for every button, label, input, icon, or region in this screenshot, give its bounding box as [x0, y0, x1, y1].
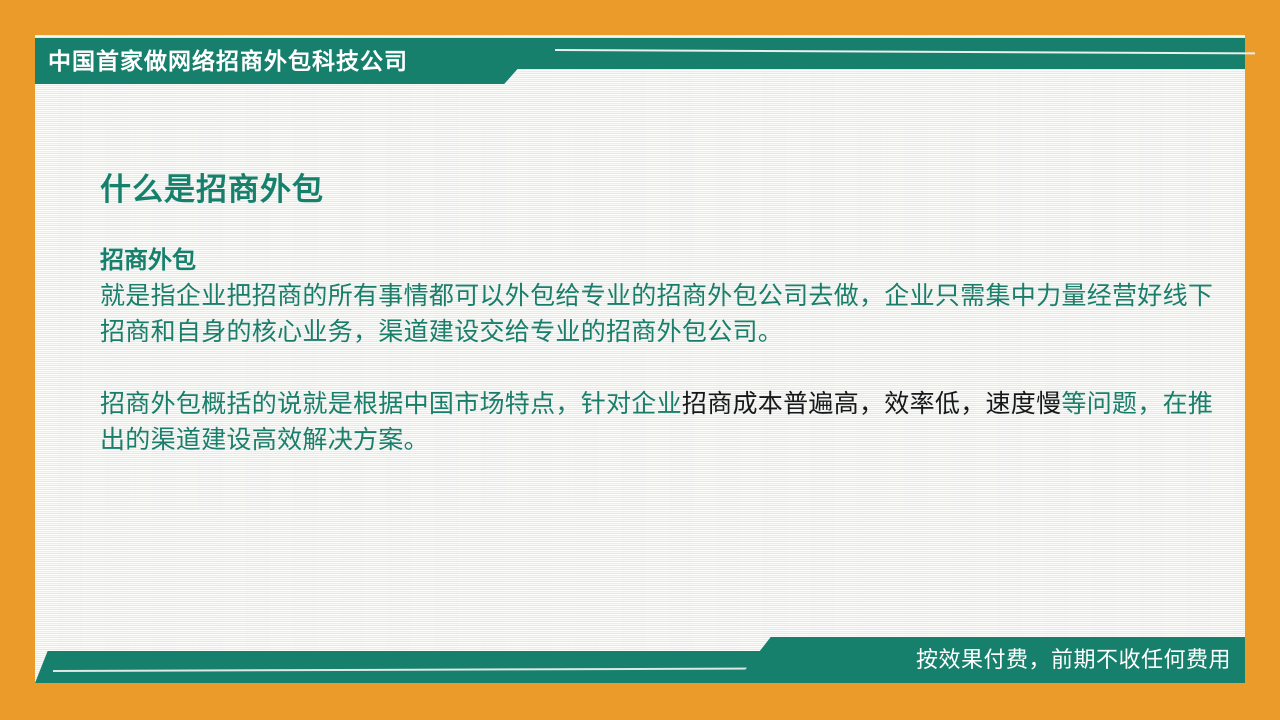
slide-canvas: 中国首家做网络招商外包科技公司 什么是招商外包 招商外包 就是指企业把招商的所有… [0, 0, 1280, 720]
summary-text-part-1: 招商外包概括的说就是根据中国市场特点，针对企业 [100, 390, 682, 418]
summary-text-emphasis: 招商成本普遍高，效率低，速度慢 [682, 390, 1062, 418]
header-title: 中国首家做网络招商外包科技公司 [48, 44, 408, 78]
header-band: 中国首家做网络招商外包科技公司 [35, 38, 1245, 84]
slide-content: 什么是招商外包 招商外包 就是指企业把招商的所有事情都可以外包给专业的招商外包公… [100, 168, 1230, 458]
footer-tagline-plate: 按效果付费，前期不收任何费用 [735, 637, 1245, 683]
summary-paragraph: 招商外包概括的说就是根据中国市场特点，针对企业招商成本普遍高，效率低，速度慢等问… [100, 386, 1230, 458]
definition-paragraph: 就是指企业把招商的所有事情都可以外包给专业的招商外包公司去做，企业只需集中力量经… [100, 278, 1230, 350]
section-lead-label: 招商外包 [100, 244, 1230, 278]
header-title-plate: 中国首家做网络招商外包科技公司 [35, 38, 545, 84]
page-title: 什么是招商外包 [100, 168, 1230, 212]
footer-tagline: 按效果付费，前期不收任何费用 [916, 644, 1231, 676]
footer-band: 按效果付费，前期不收任何费用 [35, 637, 1245, 683]
